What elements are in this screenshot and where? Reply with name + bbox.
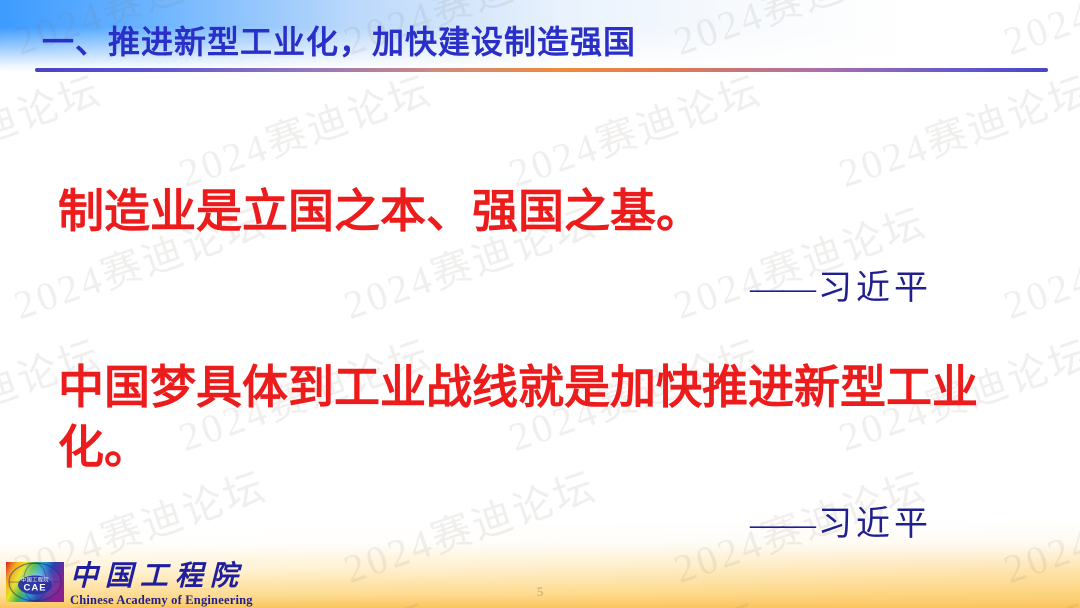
attribution-name: 习近平 — [818, 506, 932, 543]
quote-text-second: 中国梦具体到工业战线就是加快推进新型工业化。 — [0, 358, 1080, 478]
page-number: 5 — [0, 584, 1080, 600]
attribution-dash: —— — [750, 506, 814, 543]
presentation-slide: 2024赛迪论坛2024赛迪论坛2024赛迪论坛2024赛迪论坛2024赛迪论坛… — [0, 0, 1080, 608]
quote-attribution-first: ——习近平 — [0, 242, 1080, 309]
quote-text-first: 制造业是立国之本、强国之基。 — [0, 182, 1080, 242]
attribution-name: 习近平 — [818, 270, 932, 307]
slide-content: 制造业是立国之本、强国之基。 ——习近平 中国梦具体到工业战线就是加快推进新型工… — [0, 0, 1080, 608]
quote-block-first: 制造业是立国之本、强国之基。 ——习近平 — [0, 182, 1080, 309]
quote-attribution-second: ——习近平 — [0, 478, 1080, 545]
slide-title-row: 一、推进新型工业化，加快建设制造强国 — [0, 22, 1080, 62]
attribution-dash: —— — [750, 270, 814, 307]
title-divider-rule — [35, 68, 1048, 72]
quote-block-second: 中国梦具体到工业战线就是加快推进新型工业化。 ——习近平 — [0, 358, 1080, 545]
page-title: 一、推进新型工业化，加快建设制造强国 — [0, 22, 1080, 62]
